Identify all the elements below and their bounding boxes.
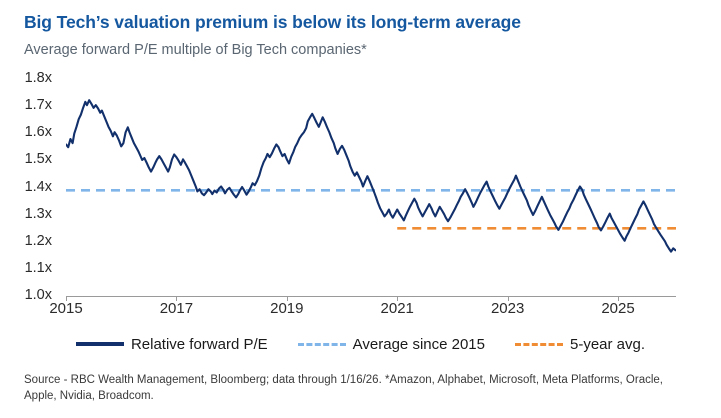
- y-axis-tick-label: 1.4x: [25, 179, 52, 195]
- x-axis-tick-mark: [287, 296, 288, 301]
- legend-item[interactable]: Average since 2015: [298, 336, 485, 353]
- x-axis-tick-mark: [508, 296, 509, 301]
- legend-swatch: [76, 342, 124, 346]
- footer-divider: [24, 366, 697, 367]
- x-axis-labels: 201520172019202120232025: [0, 300, 721, 324]
- page-title: Big Tech’s valuation premium is below it…: [24, 12, 521, 33]
- y-axis-tick-label: 1.2x: [25, 233, 52, 249]
- x-axis-tick-mark: [397, 296, 398, 301]
- legend-swatch: [515, 343, 563, 346]
- x-axis-tick-label: 2023: [491, 300, 524, 317]
- y-axis-tick-label: 1.3x: [25, 206, 52, 222]
- y-axis-tick-label: 1.5x: [25, 151, 52, 167]
- x-axis-tick-mark: [66, 296, 67, 301]
- source-note: Source - RBC Wealth Management, Bloomber…: [24, 372, 694, 405]
- legend-swatch: [298, 343, 346, 346]
- chart-legend: Relative forward P/EAverage since 20155-…: [0, 330, 721, 358]
- legend-label: Average since 2015: [353, 336, 485, 353]
- legend-label: 5-year avg.: [570, 336, 645, 353]
- plot-region: [66, 78, 676, 295]
- legend-item[interactable]: Relative forward P/E: [76, 336, 268, 353]
- chart-page: Big Tech’s valuation premium is below it…: [0, 0, 721, 418]
- x-axis-tick-label: 2015: [49, 300, 82, 317]
- x-axis-tick-mark: [176, 296, 177, 301]
- x-axis-tick-mark: [618, 296, 619, 301]
- y-axis-tick-label: 1.8x: [25, 70, 52, 86]
- page-subtitle: Average forward P/E multiple of Big Tech…: [24, 42, 367, 58]
- y-axis-tick-label: 1.7x: [25, 97, 52, 113]
- x-axis-tick-label: 2019: [270, 300, 303, 317]
- y-axis-tick-label: 1.6x: [25, 124, 52, 140]
- legend-label: Relative forward P/E: [131, 336, 268, 353]
- line-chart-svg: [66, 78, 676, 295]
- x-axis-tick-label: 2021: [381, 300, 414, 317]
- legend-item[interactable]: 5-year avg.: [515, 336, 645, 353]
- y-axis-labels: 1.8x1.7x1.6x1.5x1.4x1.3x1.2x1.1x1.0x: [0, 78, 60, 310]
- y-axis-tick-label: 1.1x: [25, 260, 52, 276]
- chart-area: 1.8x1.7x1.6x1.5x1.4x1.3x1.2x1.1x1.0x: [0, 78, 721, 310]
- x-axis-tick-label: 2025: [601, 300, 634, 317]
- x-axis-tick-label: 2017: [160, 300, 193, 317]
- x-axis-line: [66, 296, 676, 297]
